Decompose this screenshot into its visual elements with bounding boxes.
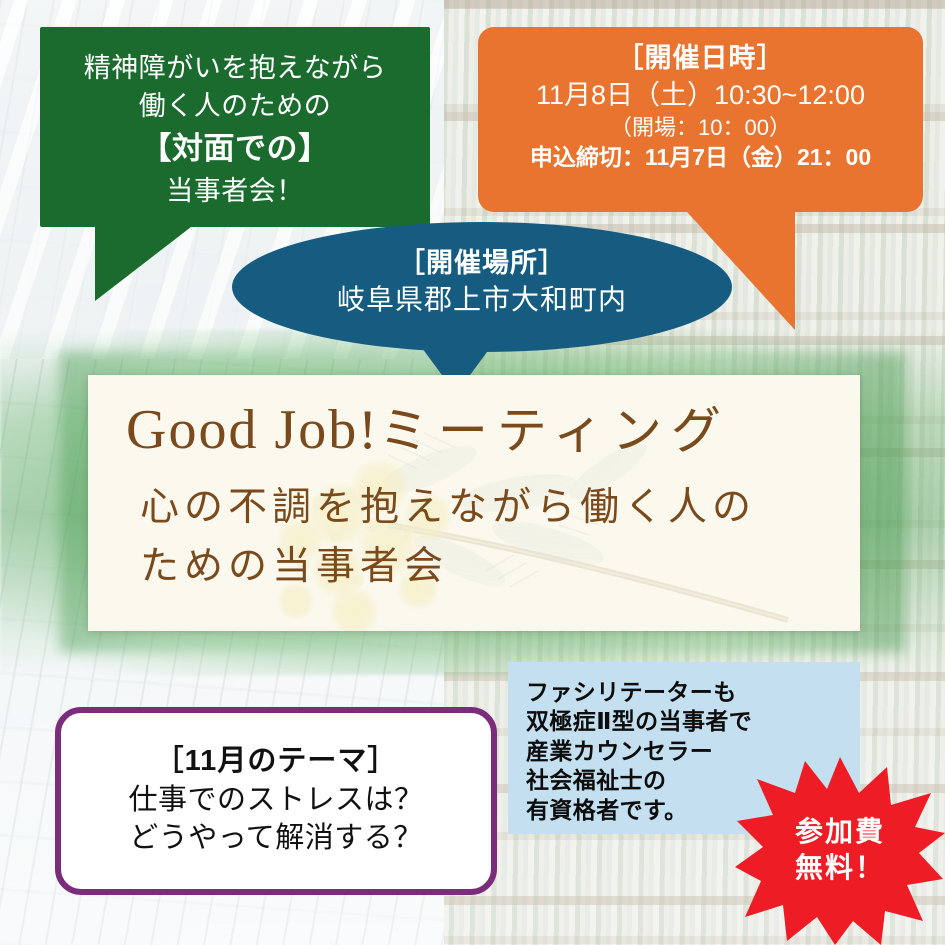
orange-bubble-doors-open: （開場：10：00） bbox=[486, 113, 915, 142]
orange-bubble-deadline: 申込締切：11月7日（金）21：00 bbox=[486, 142, 915, 173]
green-bubble-line-4: 当事者会！ bbox=[50, 172, 420, 210]
theme-box-question-2: どうやって解消する？ bbox=[61, 819, 491, 857]
blue-bubble-venue: 岐阜県郡上市大和町内 bbox=[232, 281, 732, 319]
theme-box-heading: ［11月のテーマ］ bbox=[61, 743, 491, 781]
blue-bubble-heading: ［開催場所］ bbox=[232, 246, 732, 281]
monthly-theme-box: ［11月のテーマ］ 仕事でのストレスは？ どうやって解消する？ bbox=[55, 707, 497, 895]
orange-bubble-heading: ［開催日時］ bbox=[486, 41, 915, 77]
flyer-poster: 精神障がいを抱えながら 働く人のための 【対面での】 当事者会！ ［開催日時］ … bbox=[0, 0, 945, 945]
title-main-english: Good Job! bbox=[126, 399, 379, 461]
green-bubble-line-3: 【対面での】 bbox=[50, 126, 420, 173]
facilitator-line-2: 双極症Ⅱ型の当事者で bbox=[526, 707, 860, 736]
title-main: Good Job!ミーティング bbox=[88, 401, 860, 460]
title-card: Good Job!ミーティング 心の不調を抱えながら働く人の ための当事者会 bbox=[88, 375, 860, 631]
facilitator-line-1: ファシリテーターも bbox=[526, 678, 860, 707]
green-bubble-tail bbox=[95, 227, 191, 301]
starburst-icon bbox=[735, 755, 945, 945]
theme-box-question-1: 仕事でのストレスは？ bbox=[61, 781, 491, 819]
green-bubble-line-2: 働く人のための bbox=[50, 87, 420, 125]
title-subtitle-line-2: ための当事者会 bbox=[140, 537, 860, 596]
green-bubble-line-1: 精神障がいを抱えながら bbox=[50, 49, 420, 87]
green-speech-bubble: 精神障がいを抱えながら 働く人のための 【対面での】 当事者会！ bbox=[40, 27, 430, 227]
orange-speech-bubble-datetime: ［開催日時］ 11月8日（土）10:30~12:00 （開場：10：00） 申込… bbox=[478, 27, 923, 212]
orange-bubble-date-time: 11月8日（土）10:30~12:00 bbox=[486, 77, 915, 113]
title-subtitle: 心の不調を抱えながら働く人の ための当事者会 bbox=[88, 478, 860, 597]
blue-ellipse-bubble-venue: ［開催場所］ 岐阜県郡上市大和町内 bbox=[232, 222, 732, 352]
title-main-katakana: ミーティング bbox=[379, 403, 730, 459]
title-subtitle-line-1: 心の不調を抱えながら働く人の bbox=[140, 478, 860, 537]
free-admission-burst-badge: 参加費 無料！ bbox=[735, 755, 945, 945]
